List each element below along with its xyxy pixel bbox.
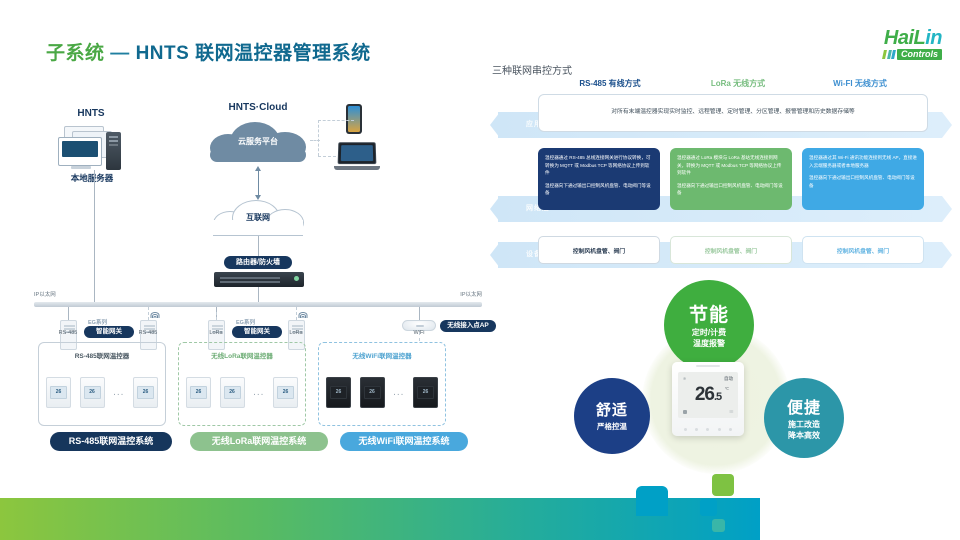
network-topology-diagram: HNTS 本地服务器 HNTS·Cloud 云服务平台 互联网 路由器/防火墙 … — [28, 80, 488, 460]
thermostat-unit[interactable]: 26 — [80, 377, 105, 408]
device-panel-wifi: 无线WiFi联网温控器 26 26 ... 26 — [318, 342, 446, 426]
link-cloud-phone — [318, 120, 354, 121]
benefit-sub-energy-2: 温度报警 — [693, 339, 725, 350]
ethernet-backbone-bus — [34, 302, 482, 307]
benefit-circle-energy: 节能 定时/计费 温度报警 — [664, 280, 754, 370]
ethernet-label-left: IP以太网 — [34, 290, 56, 298]
benefit-title-convenience: 便捷 — [787, 394, 821, 418]
panel-title-lora: 无线LoRa联网温控器 — [179, 350, 305, 360]
thermostat-unit[interactable]: 26 — [360, 377, 385, 408]
page-title-prefix: 子系统 — [46, 43, 105, 64]
thermostat-top-strip — [696, 365, 720, 367]
link-vertical-devices — [318, 120, 319, 156]
panel-ellipsis: ... — [113, 387, 124, 398]
router-firewall-label: 路由器/防火墙 — [224, 256, 292, 269]
thermostat-unit[interactable]: 26 — [413, 377, 438, 408]
cloud-platform-label: 云服务平台 — [206, 136, 310, 147]
hnts-label: HNTS — [56, 108, 126, 119]
thermostat-unit[interactable]: 26 — [220, 377, 245, 408]
thermostat-screen: ❄ 自动 26.5 ℃ ≡≡ — [678, 372, 738, 418]
thermostat-unit[interactable]: 26 — [273, 377, 298, 408]
gateway-pill-2: 智能网关 — [232, 326, 282, 338]
thermostat-fan-icon: ≡≡ — [729, 409, 733, 414]
network-card-lora-p2: 温控器向下通过输出口控制风机盘管、电动阀门等设备 — [677, 182, 785, 197]
benefit-title-energy: 节能 — [689, 300, 729, 327]
device-card-lora: 控制风机盘管、阀门 — [670, 236, 792, 264]
thermostat-unit[interactable]: 26 — [326, 377, 351, 408]
gateway-pill-1: 智能网关 — [84, 326, 134, 338]
internet-label: 互联网 — [210, 212, 306, 223]
logo-wordmark: HaiLin — [834, 28, 942, 48]
network-card-wifi-p1: 温控器通过其 Wi-Fi 通讯功能连接到无线 AP，直接进入云端服务器或者本地服… — [809, 154, 917, 169]
link-router-bus — [258, 287, 259, 302]
thermostat-row-rs485: 26 26 ... 26 — [46, 367, 158, 417]
internet-cloud-icon: 互联网 — [210, 198, 306, 236]
network-card-wifi-p2: 温控器向下通过输出口控制风机盘管、电动阀门等设备 — [809, 174, 917, 189]
ethernet-label-right: IP以太网 — [460, 290, 482, 298]
link-bus-gw2 — [148, 307, 149, 320]
method-header-wifi: Wi-FI 无线方式 — [800, 78, 920, 89]
footer-notch-shape — [636, 486, 668, 516]
method-header-rs485: RS-485 有线方式 — [550, 78, 670, 89]
thermostat-product-image: ❄ 自动 26.5 ℃ ≡≡ — [672, 362, 744, 436]
benefit-circle-comfort: 舒适 严格控温 — [574, 378, 650, 454]
wireless-signal-icon-2 — [298, 310, 308, 318]
system-pill-wifi: 无线WiFi联网温控系统 — [340, 432, 468, 451]
thermostat-display: 26 — [50, 386, 67, 399]
link-server-bus — [94, 170, 95, 302]
local-server-icon — [50, 126, 136, 170]
mobile-phone-icon — [346, 104, 362, 134]
page-title-dash: — — [110, 43, 130, 64]
device-card-wifi: 控制风机盘管、阀门 — [802, 236, 924, 264]
thermostat-temp-int: 26 — [695, 384, 714, 405]
thermostat-unit-label: ℃ — [725, 386, 730, 391]
panel-ellipsis: ... — [253, 387, 264, 398]
benefit-sub-convenience-2: 降本高效 — [788, 431, 820, 442]
thermostat-unit[interactable]: 26 — [186, 377, 211, 408]
local-server-label: 本地服务器 — [42, 172, 142, 184]
footer-square-2 — [712, 519, 725, 532]
benefit-sub-energy-1: 定时/计费 — [692, 328, 726, 339]
wireless-ap-label: 无线接入点AP — [440, 320, 496, 332]
arrow-cloud-internet — [258, 170, 259, 196]
conn-label-rs485-1: RS-485 — [55, 330, 81, 336]
link-cloud-branch — [310, 140, 320, 141]
benefit-sub-convenience-1: 施工改造 — [788, 420, 820, 431]
network-card-rs485: 温控器通过 RS-485 总线连接网关进行协议转换，可转换为 MQTT 或 Mo… — [538, 148, 660, 210]
thermostat-display: 26 — [330, 386, 347, 399]
thermostat-power-icon — [683, 410, 687, 414]
page-title: 子系统 — HNTS 联网温控器管理系统 — [46, 38, 371, 65]
gateway-series-1: EG系列 — [88, 318, 107, 326]
thermostat-display: 26 — [277, 386, 294, 399]
logo-wordmark-b: in — [925, 27, 942, 49]
thermostat-unit[interactable]: 26 — [46, 377, 71, 408]
conn-label-lora-2: LoRa — [283, 330, 309, 336]
device-card-wifi-text: 控制风机盘管、阀门 — [837, 246, 889, 255]
thermostat-display: 26 — [84, 386, 101, 399]
panel-title-rs485: RS-485联网温控器 — [39, 350, 165, 360]
method-header-lora: LoRa 无线方式 — [678, 78, 798, 89]
device-panel-lora: 无线LoRa联网温控器 26 26 ... 26 — [178, 342, 306, 426]
footer-square-3 — [712, 474, 734, 496]
network-card-wifi: 温控器通过其 Wi-Fi 通讯功能连接到无线 AP，直接进入云端服务器或者本地服… — [802, 148, 924, 210]
cloud-title: HNTS·Cloud — [198, 102, 318, 113]
thermostat-unit[interactable]: 26 — [133, 377, 158, 408]
laptop-icon — [334, 142, 380, 170]
page-title-main: HNTS 联网温控器管理系统 — [136, 43, 371, 64]
drop-line-wifi — [419, 332, 420, 341]
network-card-rs485-p2: 温控器向下通过输出口控制风机盘管、电动阀门等设备 — [545, 182, 653, 197]
benefits-cluster: 节能 定时/计费 温度报警 舒适 严格控温 便捷 施工改造 降本高效 ❄ 自动 … — [560, 278, 860, 478]
panel-ellipsis: ... — [393, 387, 404, 398]
application-layer-text: 对所有末端温控器实现实时监控、远程管理、定时管理、分区管理、报警管理和历史数据存… — [611, 108, 854, 117]
device-card-lora-text: 控制风机盘管、阀门 — [705, 246, 757, 255]
link-bus-gw4 — [296, 307, 297, 320]
drop-line-lora — [216, 312, 217, 320]
layers-section-title: 三种联网串控方式 — [492, 62, 572, 77]
system-pill-lora: 无线LoRa联网温控系统 — [190, 432, 328, 451]
server-tower-icon — [106, 132, 121, 170]
system-pill-rs485: RS-485联网温控系统 — [50, 432, 172, 451]
logo-wordmark-a: HaiL — [884, 27, 925, 49]
network-card-lora-p1: 温控器通过 LoRa 模块与 LoRa 基站无线连接到网关，转换为 MQTT 或… — [677, 154, 785, 177]
link-bus-ap — [419, 307, 420, 320]
gateway-series-2: EG系列 — [236, 318, 255, 326]
thermostat-row-lora: 26 26 ... 26 — [186, 367, 298, 417]
network-card-rs485-p1: 温控器通过 RS-485 总线连接网关进行协议转换，可转换为 MQTT 或 Mo… — [545, 154, 653, 177]
wireless-signal-icon-1 — [150, 310, 160, 318]
thermostat-button-row[interactable] — [672, 428, 744, 431]
thermostat-display: 26 — [190, 386, 207, 399]
layered-architecture-diagram: 三种联网串控方式 RS-485 有线方式 LoRa 无线方式 Wi-FI 无线方… — [490, 58, 950, 288]
footer-square-1 — [700, 499, 717, 516]
thermostat-mode-icon: ❄ — [683, 376, 686, 381]
benefit-sub-comfort-1: 严格控温 — [597, 422, 627, 432]
benefit-circle-convenience: 便捷 施工改造 降本高效 — [764, 378, 844, 458]
thermostat-temp-dec: .5 — [714, 391, 721, 403]
network-card-lora: 温控器通过 LoRa 模块与 LoRa 基站无线连接到网关，转换为 MQTT 或… — [670, 148, 792, 210]
panel-title-wifi: 无线WiFi联网温控器 — [319, 350, 445, 360]
cloud-platform-icon: 云服务平台 — [206, 120, 310, 162]
thermostat-display: 26 — [417, 386, 434, 399]
thermostat-display: 26 — [364, 386, 381, 399]
application-layer-card: 对所有末端温控器实现实时监控、远程管理、定时管理、分区管理、报警管理和历史数据存… — [538, 94, 928, 132]
thermostat-temperature: 26.5 — [678, 385, 738, 407]
link-bus-gw1 — [68, 307, 69, 320]
thermostat-row-wifi: 26 26 ... 26 — [326, 367, 438, 417]
router-device-icon — [214, 272, 304, 287]
thermostat-mode-label: 自动 — [724, 376, 733, 382]
conn-label-lora-1: LoRa — [203, 330, 229, 336]
thermostat-display: 26 — [137, 386, 154, 399]
device-card-rs485: 控制风机盘管、阀门 — [538, 236, 660, 264]
link-cloud-laptop — [318, 156, 336, 157]
conn-label-rs485-2: RS-485 — [135, 330, 161, 336]
device-card-rs485-text: 控制风机盘管、阀门 — [573, 246, 625, 255]
thermostat-display: 26 — [224, 386, 241, 399]
benefit-title-comfort: 舒适 — [596, 399, 628, 420]
device-panel-rs485: RS-485联网温控器 26 26 ... 26 — [38, 342, 166, 426]
link-internet-router — [258, 236, 259, 256]
